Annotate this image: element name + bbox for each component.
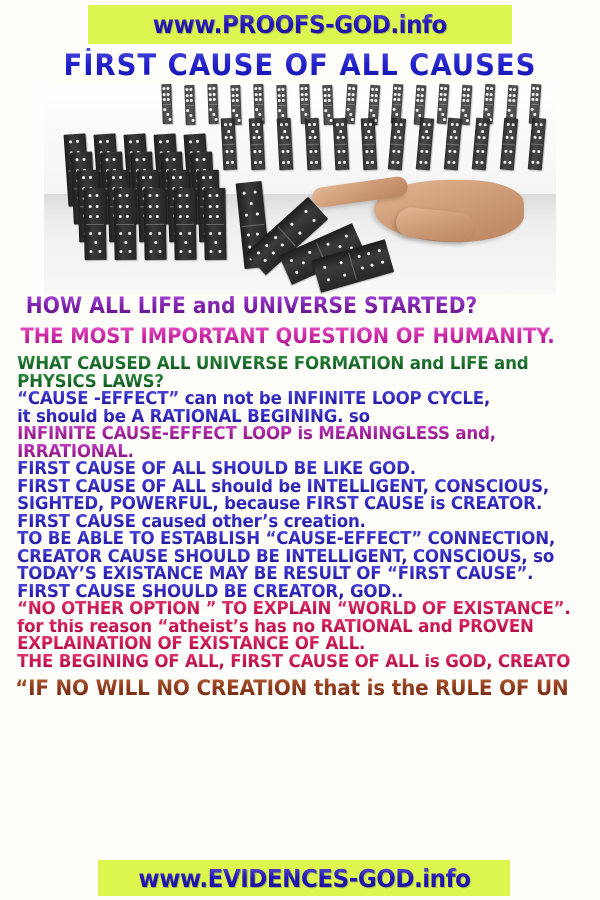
hero-title: FİRST CAUSE OF ALL CAUSES: [0, 48, 600, 82]
domino-pip: [148, 215, 151, 218]
domino-divider: [391, 143, 403, 145]
domino-pip: [476, 149, 479, 152]
domino-pip: [218, 231, 221, 234]
domino-pip: [511, 136, 514, 139]
domino-pip: [208, 194, 211, 197]
domino-pip: [245, 213, 248, 216]
domino-pip: [278, 99, 281, 102]
domino-pip: [327, 99, 330, 102]
domino-pip: [348, 87, 351, 90]
domino-pip: [466, 119, 469, 122]
domino-pip: [443, 93, 446, 96]
domino-tile: [83, 188, 106, 260]
domino-pip: [278, 94, 281, 97]
domino-pip: [278, 88, 281, 91]
domino-pip: [327, 113, 330, 116]
domino-divider: [232, 105, 240, 106]
domino-pip: [367, 252, 371, 256]
domino-pip: [311, 218, 315, 222]
domino-pip: [391, 161, 394, 164]
domino-pip: [398, 87, 401, 90]
domino-pip: [163, 98, 166, 101]
domino-pip: [274, 235, 278, 239]
domino-pip: [120, 250, 123, 253]
domino-pip: [259, 150, 262, 153]
domino-pip: [119, 232, 122, 235]
domino-pip: [214, 240, 217, 243]
domino-pip: [336, 123, 339, 126]
domino-pip: [506, 123, 509, 126]
domino-pip: [188, 231, 191, 234]
domino-pip: [421, 136, 424, 139]
domino-pip: [118, 194, 121, 197]
domino-pip: [310, 161, 313, 164]
domino-pip: [393, 107, 396, 110]
domino-pip: [126, 194, 129, 197]
domino-pip: [371, 263, 375, 267]
domino-pip: [249, 202, 252, 205]
domino-tile: [113, 188, 136, 260]
domino-divider: [485, 104, 493, 106]
domino-pip: [272, 251, 276, 255]
domino-pip: [394, 98, 397, 101]
domino-pip: [255, 108, 258, 111]
domino-pip: [189, 99, 192, 102]
domino-pip: [298, 230, 302, 234]
domino-pip: [512, 94, 515, 97]
domino-pip: [308, 250, 312, 254]
domino-pip: [462, 108, 465, 111]
domino-pip: [301, 87, 304, 90]
domino-pip: [156, 194, 159, 197]
domino-pip: [453, 129, 456, 132]
domino-pip: [258, 92, 261, 95]
domino-pip: [503, 161, 506, 164]
domino-pip: [90, 250, 93, 253]
domino-pip: [186, 94, 189, 97]
domino-pip: [420, 94, 423, 97]
domino-pip: [156, 215, 159, 218]
domino-pip: [427, 136, 430, 139]
domino-pip: [96, 204, 99, 207]
domino-pip: [186, 215, 189, 218]
domino-pip: [158, 231, 161, 234]
domino-pip: [535, 93, 538, 96]
domino-pip: [360, 266, 364, 270]
domino-pip: [351, 93, 354, 96]
domino-pip: [290, 258, 294, 262]
domino-tile: [528, 117, 546, 170]
domino-pip: [303, 209, 307, 213]
domino-pip: [540, 123, 543, 126]
domino-pip: [224, 123, 227, 126]
domino-pip: [256, 251, 260, 255]
domino-pip: [210, 250, 213, 253]
domino-divider: [462, 105, 470, 107]
domino-pip: [280, 136, 283, 139]
domino-pip: [489, 98, 492, 101]
domino-pip: [372, 113, 375, 116]
domino-pip: [285, 123, 288, 126]
domino-pip: [96, 215, 99, 218]
domino-divider: [279, 144, 291, 146]
domino-pip: [253, 191, 256, 194]
domino-pip: [466, 94, 469, 97]
domino-pip: [308, 123, 311, 126]
domino-divider: [363, 144, 375, 146]
domino-pip: [399, 136, 402, 139]
domino-pip: [143, 158, 146, 161]
domino-pip: [394, 92, 397, 95]
domino-pip: [189, 141, 192, 144]
domino-pip: [304, 112, 307, 115]
domino-pip: [314, 136, 317, 139]
domino-pip: [166, 92, 169, 95]
domino-pip: [148, 194, 151, 197]
domino-pip: [163, 87, 166, 90]
domino-pip: [371, 161, 374, 164]
domino-pip: [203, 158, 206, 161]
domino-pip: [504, 149, 507, 152]
domino-tile: [388, 117, 406, 170]
domino-divider: [278, 105, 286, 106]
domino-pip: [235, 113, 238, 116]
domino-pip: [287, 161, 290, 164]
domino-chain-reaction-photo: [44, 82, 556, 294]
domino-pip: [88, 205, 91, 208]
domino-pip: [128, 249, 131, 252]
domino-divider: [475, 143, 487, 145]
domino-pip: [315, 150, 318, 153]
domino-pip: [351, 98, 354, 101]
domino-pip: [231, 161, 234, 164]
domino-tile: [161, 84, 172, 124]
domino-divider: [439, 104, 447, 106]
domino-tile: [305, 118, 322, 171]
domino-pip: [349, 112, 352, 115]
domino-pip: [485, 107, 488, 110]
domino-pip: [455, 136, 458, 139]
domino-pip: [212, 112, 215, 115]
domino-pip: [486, 87, 489, 90]
domino-pip: [343, 274, 347, 278]
domino-pip: [218, 249, 221, 252]
domino-pip: [163, 93, 166, 96]
domino-pip: [225, 150, 228, 153]
domino-pip: [304, 87, 307, 90]
domino-divider: [503, 143, 515, 145]
domino-pip: [189, 113, 192, 116]
domino-pip: [258, 136, 261, 139]
domino-pip: [486, 98, 489, 101]
domino-tile: [173, 188, 196, 260]
domino-pip: [397, 129, 400, 132]
domino-divider: [242, 224, 264, 227]
domino-pip: [509, 88, 512, 91]
domino-pip: [532, 92, 535, 95]
domino-tile: [203, 188, 226, 260]
domino-pip: [444, 87, 447, 90]
domino-pip: [364, 136, 367, 139]
copy-block: HOW ALL LIFE and UNIVERSE STARTED? THE M…: [0, 296, 600, 699]
domino-pip: [179, 232, 182, 235]
domino-pip: [280, 243, 284, 247]
domino-pip: [179, 176, 182, 179]
domino-pip: [483, 136, 486, 139]
domino-pip: [96, 194, 99, 197]
domino-pip: [258, 87, 261, 90]
domino-pip: [119, 176, 122, 179]
domino-pip: [106, 140, 109, 143]
domino-pip: [347, 107, 350, 110]
domino-pip: [532, 149, 535, 152]
domino-pip: [166, 98, 169, 101]
domino-pip: [76, 140, 79, 143]
domino-pip: [202, 177, 205, 180]
domino-pip: [232, 99, 235, 102]
domino-pip: [375, 88, 378, 91]
domino-pip: [254, 161, 257, 164]
domino-pip: [281, 99, 284, 102]
domino-pip: [324, 88, 327, 91]
domino-pip: [341, 123, 344, 126]
domino-pip: [440, 98, 443, 101]
hero-title-text: FİRST CAUSE OF ALL CAUSES: [63, 48, 536, 82]
domino-pip: [417, 93, 420, 96]
domino-pip: [463, 99, 466, 102]
domino-pip: [475, 161, 478, 164]
domino-pip: [301, 98, 304, 101]
domino-pip: [532, 98, 535, 101]
bottom-website-url[interactable]: www.EVIDENCES-GOD.info: [138, 866, 470, 891]
domino-pip: [124, 240, 127, 243]
domino-pip: [311, 129, 314, 132]
domino-divider: [255, 104, 263, 105]
domino-pip: [370, 108, 373, 111]
domino-pip: [443, 98, 446, 101]
domino-pip: [209, 176, 212, 179]
domino-pip: [166, 87, 169, 90]
domino-pip: [509, 99, 512, 102]
domino-pip: [188, 249, 191, 252]
domino-pip: [252, 136, 255, 139]
domino-pip: [420, 99, 423, 102]
domino-pip: [397, 93, 400, 96]
domino-pip: [148, 205, 151, 208]
domino-pip: [128, 231, 131, 234]
domino-pip: [302, 260, 306, 264]
domino-pip: [281, 113, 284, 116]
domino-tile: [416, 117, 434, 170]
domino-divider: [209, 104, 217, 105]
domino-divider: [419, 143, 431, 145]
domino-pip: [374, 94, 377, 97]
domino-pip: [173, 158, 176, 161]
domino-pip: [392, 149, 395, 152]
domino-pip: [216, 204, 219, 207]
domino-divider: [335, 144, 347, 146]
domino-pip: [286, 136, 289, 139]
domino-divider: [176, 224, 195, 225]
domino-pip: [265, 243, 269, 247]
domino-pip: [283, 129, 286, 132]
domino-pip: [247, 233, 250, 236]
domino-pip: [150, 250, 153, 253]
domino-pip: [484, 123, 487, 126]
domino-pip: [99, 141, 102, 144]
domino-pip: [481, 161, 484, 164]
domino-pip: [447, 161, 450, 164]
domino-pip: [477, 136, 480, 139]
domino-pip: [259, 161, 262, 164]
domino-pip: [189, 93, 192, 96]
domino-pip: [287, 150, 290, 153]
domino-divider: [86, 224, 105, 225]
domino-pip: [395, 112, 398, 115]
domino-pip: [159, 141, 162, 144]
closing-statement: “IF NO WILL NO CREATION that is the RULE…: [0, 678, 570, 699]
domino-pip: [186, 204, 189, 207]
domino-pip: [214, 117, 217, 120]
domino-pip: [89, 176, 92, 179]
domino-divider: [447, 143, 459, 145]
domino-pip: [166, 112, 169, 115]
domino-pip: [209, 232, 212, 235]
domino-pip: [154, 240, 157, 243]
domino-pip: [364, 123, 367, 126]
domino-pip: [463, 93, 466, 96]
domino-pip: [191, 118, 194, 121]
domino-pip: [505, 136, 508, 139]
domino-pip: [255, 212, 258, 215]
domino-pip: [443, 118, 446, 121]
top-website-banner[interactable]: www.PROOFS-GOD.info: [88, 5, 512, 44]
domino-pip: [186, 88, 189, 91]
domino-pip: [189, 88, 192, 91]
domino-pip: [208, 215, 211, 218]
domino-pip: [88, 215, 91, 218]
domino-pip: [149, 232, 152, 235]
domino-pip: [308, 136, 311, 139]
domino-pip: [212, 98, 215, 101]
domino-pip: [98, 231, 101, 234]
domino-pip: [324, 94, 327, 97]
domino-pip: [420, 149, 423, 152]
domino-pip: [509, 93, 512, 96]
domino-pip: [136, 140, 139, 143]
domino-pip: [366, 161, 369, 164]
domino-pip: [351, 118, 354, 121]
domino-divider: [416, 105, 424, 107]
domino-pip: [126, 215, 129, 218]
domino-pip: [537, 129, 540, 132]
domino-pip: [255, 98, 258, 101]
domino-tile: [184, 85, 195, 125]
domino-pip: [324, 99, 327, 102]
domino-pip: [235, 93, 238, 96]
domino-pip: [421, 88, 424, 91]
domino-pip: [490, 87, 493, 90]
domino-pip: [374, 99, 377, 102]
domino-divider: [307, 144, 319, 146]
domino-pip: [478, 123, 481, 126]
domino-pip: [184, 240, 187, 243]
domino-pip: [352, 87, 355, 90]
domino-pip: [371, 88, 374, 91]
domino-pip: [163, 108, 166, 111]
domino-pip: [243, 192, 246, 195]
domino-pip: [82, 177, 85, 180]
domino-pip: [208, 205, 211, 208]
domino-pip: [345, 234, 349, 238]
domino-pip: [417, 99, 420, 102]
domino-pip: [342, 136, 345, 139]
domino-pip: [105, 159, 108, 162]
domino-pip: [195, 159, 198, 162]
domino-pip: [486, 92, 489, 95]
domino-pip: [367, 129, 370, 132]
domino-pip: [440, 87, 443, 90]
domino-divider: [348, 252, 357, 280]
domino-pip: [533, 136, 536, 139]
body-lines: WHAT CAUSED ALL UNIVERSE FORMATION and L…: [0, 356, 600, 671]
domino-pip: [313, 123, 316, 126]
poster-page: www.PROOFS-GOD.info FİRST CAUSE OF ALL C…: [0, 0, 600, 900]
domino-pip: [88, 194, 91, 197]
domino-pip: [232, 109, 235, 112]
domino-pip: [212, 87, 215, 90]
domino-pip: [536, 87, 539, 90]
domino-divider: [251, 144, 263, 146]
domino-pip: [178, 194, 181, 197]
domino-pip: [426, 150, 429, 153]
domino-pip: [186, 194, 189, 197]
domino-pip: [428, 123, 431, 126]
domino-divider: [186, 105, 194, 106]
domino-pip: [343, 161, 346, 164]
domino-pip: [509, 161, 512, 164]
domino-pip: [196, 140, 199, 143]
domino-pip: [327, 93, 330, 96]
domino-pip: [186, 109, 189, 112]
domino-pip: [400, 123, 403, 126]
domino-divider: [347, 104, 355, 106]
domino-pip: [327, 242, 331, 246]
domino-pip: [129, 141, 132, 144]
domino-pip: [230, 136, 233, 139]
domino-pip: [419, 161, 422, 164]
domino-pip: [448, 149, 451, 152]
domino-pip: [348, 92, 351, 95]
bottom-website-banner[interactable]: www.EVIDENCES-GOD.info: [98, 860, 510, 896]
domino-pip: [369, 123, 372, 126]
domino-pip: [224, 136, 227, 139]
domino-pip: [323, 265, 327, 269]
domino-pip: [534, 123, 537, 126]
domino-pip: [454, 150, 457, 153]
domino-pip: [89, 232, 92, 235]
domino-pip: [186, 99, 189, 102]
domino-pip: [226, 161, 229, 164]
domino-pip: [235, 99, 238, 102]
top-website-url[interactable]: www.PROOFS-GOD.info: [153, 12, 447, 37]
domino-pip: [398, 150, 401, 153]
domino-pip: [178, 215, 181, 218]
domino-pip: [229, 123, 232, 126]
domino-pip: [290, 222, 294, 226]
domino-pip: [338, 244, 342, 248]
domino-pip: [537, 161, 540, 164]
